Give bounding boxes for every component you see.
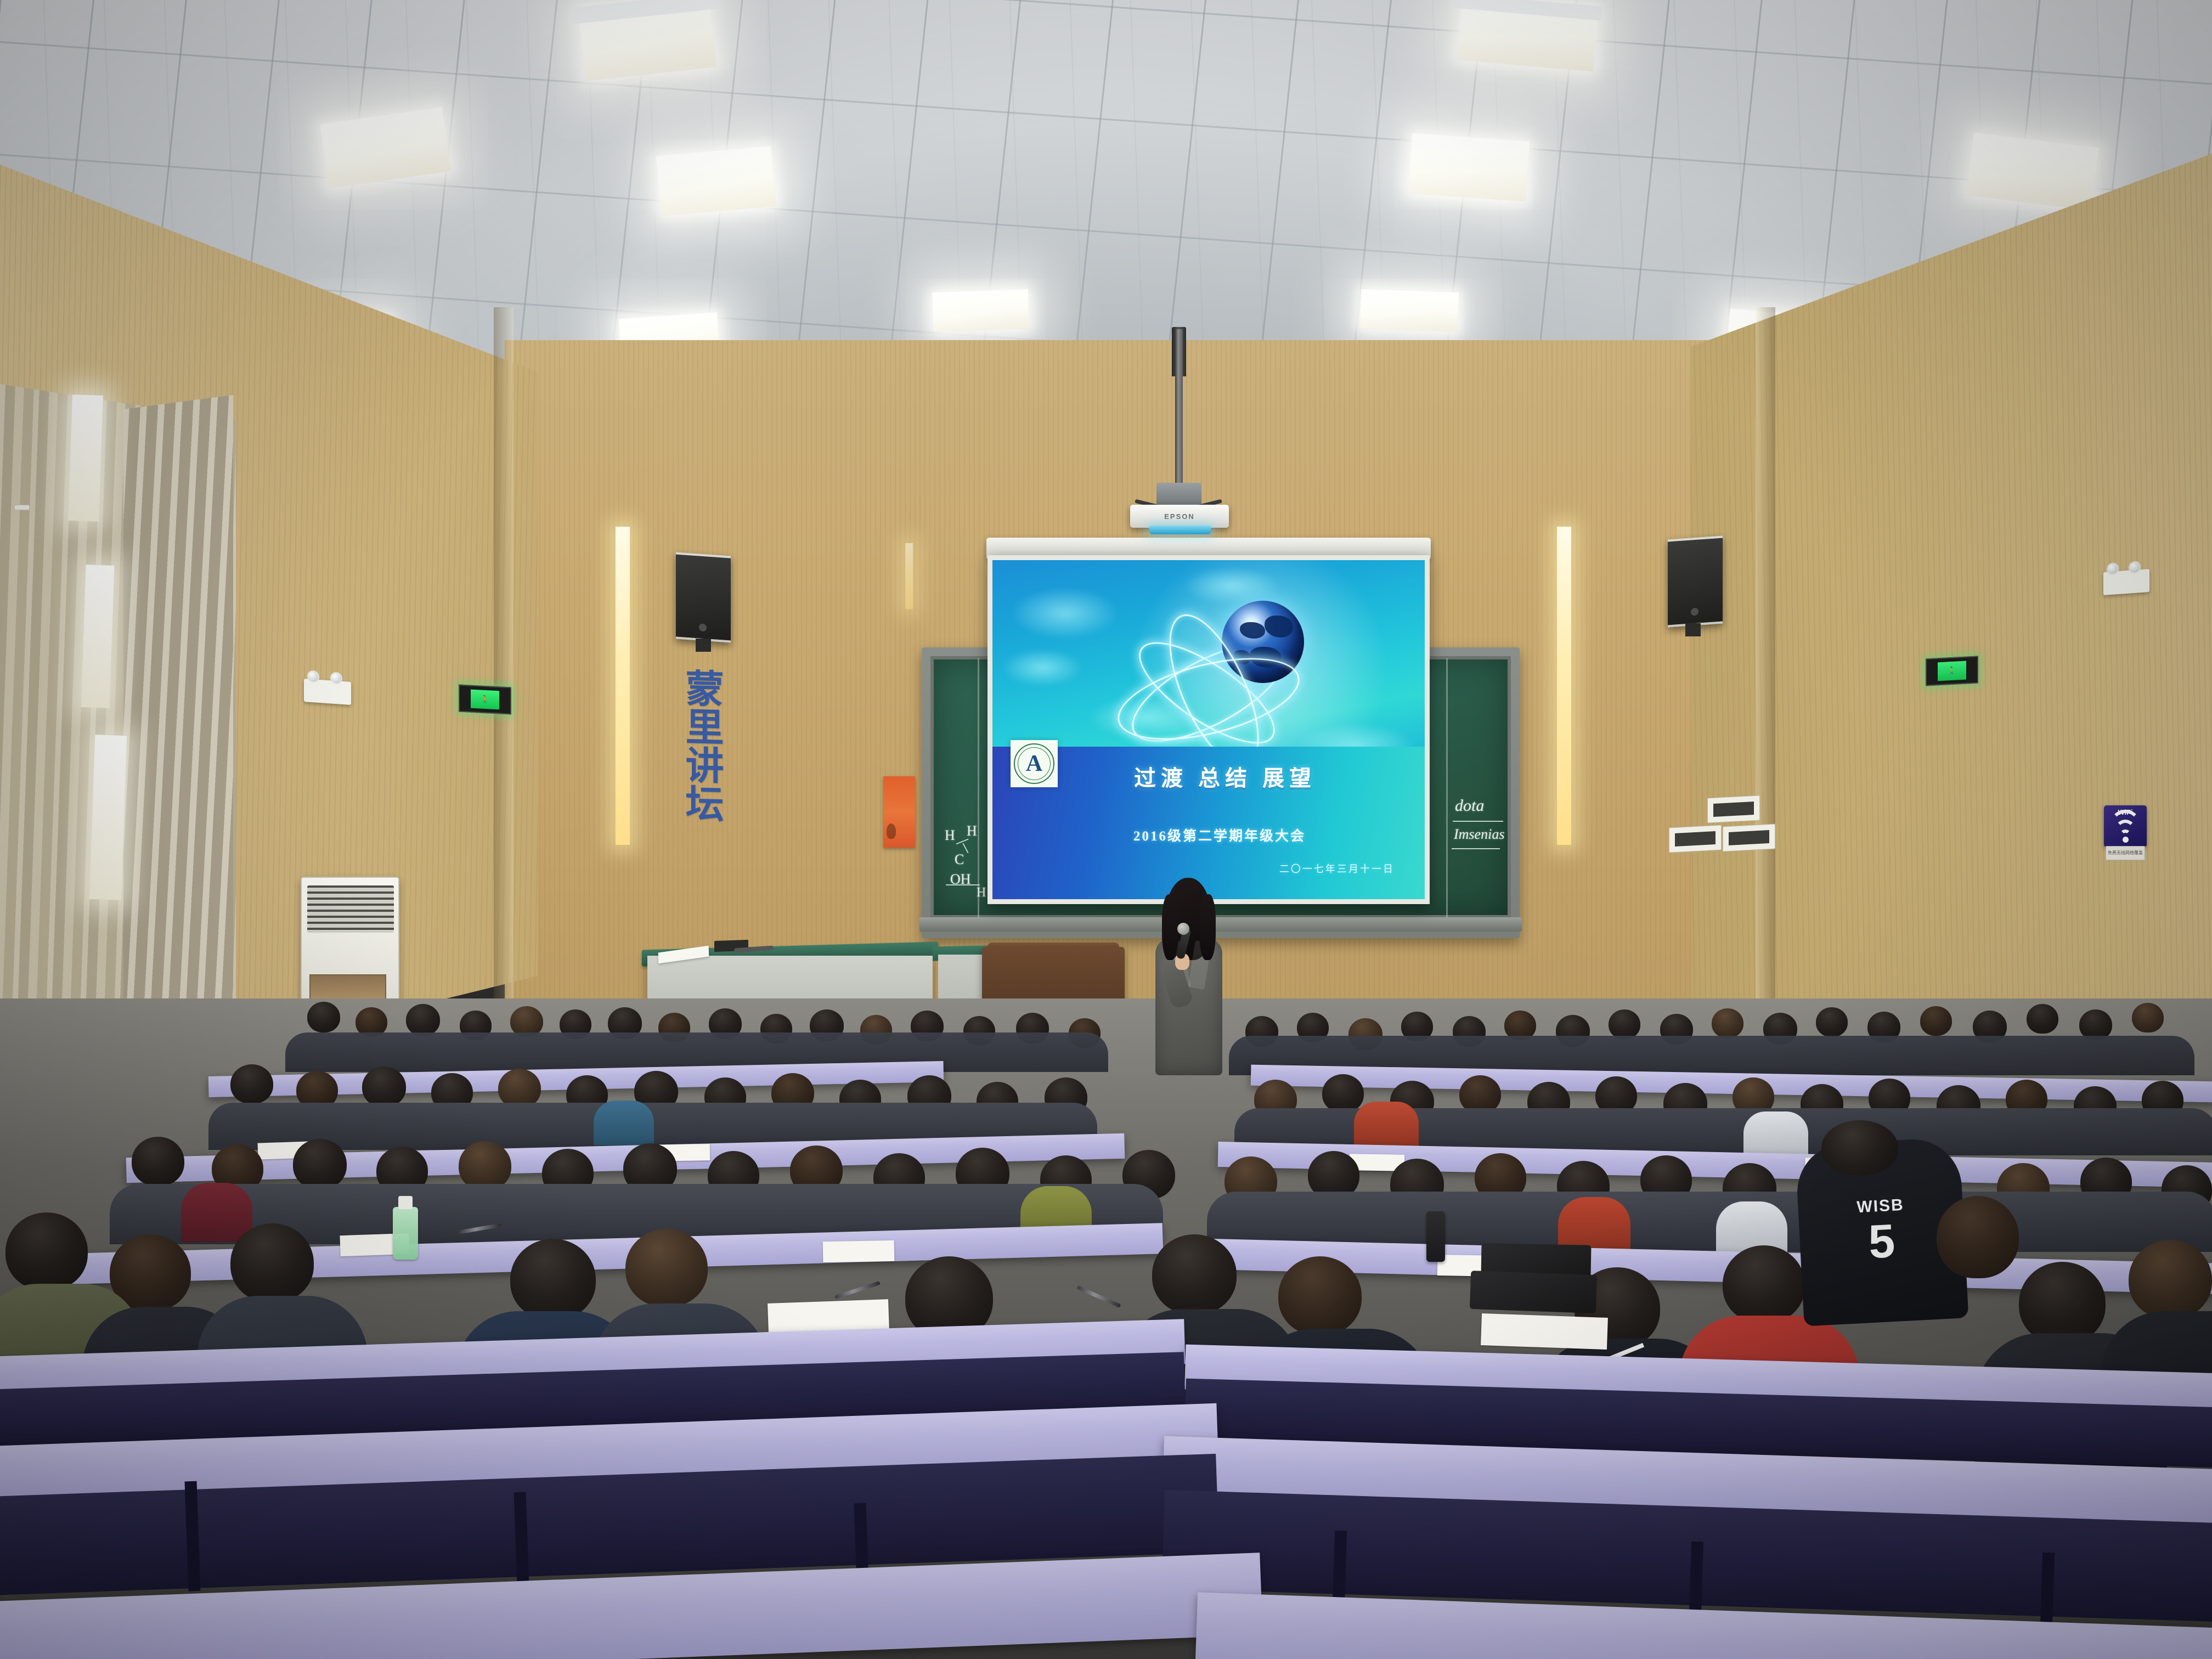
projector-rod (1175, 329, 1183, 494)
wall-switch-plate-upper[interactable] (1707, 795, 1760, 823)
slide-title: 过渡 总结 展望 (992, 760, 1425, 792)
desk-paper (823, 1240, 895, 1262)
audience-head-near (5, 1212, 88, 1290)
audience-head-near (1723, 1245, 1805, 1323)
wall-poster (883, 776, 915, 848)
desk-thermos (1426, 1211, 1445, 1262)
audience-head (1609, 1009, 1640, 1039)
audience-head (293, 1139, 347, 1189)
speaker-bracket-right (1685, 623, 1701, 636)
chalk-underline-dota (1453, 821, 1503, 822)
projector: EPSON (1130, 505, 1229, 528)
jersey-team-text: WISB (1857, 1197, 1905, 1216)
audience-head-near (2129, 1240, 2212, 1319)
wifi-label: WiFi (2104, 808, 2147, 816)
slide-date: 二〇一七年三月十一日 (1279, 861, 1395, 876)
exit-sign-glow-right: 🚶 (1938, 661, 1966, 681)
chalk-underline (946, 884, 980, 885)
audience-head (2132, 1003, 2164, 1032)
wifi-info-strip: 免费无线网络覆盖 (2106, 846, 2145, 860)
wall-switch-plate-lower-right[interactable] (1723, 823, 1775, 851)
wall-calligraphy: 蒙里讲坛 (658, 667, 724, 822)
window-light-slit (81, 565, 114, 708)
audience-body-colored (181, 1183, 252, 1242)
audience-head-near (1937, 1196, 2019, 1278)
exit-sign-left: 🚶 (459, 684, 511, 714)
wall-speaker-right (1668, 536, 1723, 628)
audience-body-colored (1354, 1102, 1419, 1148)
projection-screen: A 过渡 总结 展望 2016级第二学期年级大会 二〇一七年三月十一日 (992, 560, 1425, 899)
audience-body-colored (1743, 1111, 1808, 1158)
projector-brand-label: EPSON (1164, 512, 1195, 521)
audience-head (459, 1141, 511, 1190)
slide-cloud (1010, 587, 1120, 640)
wall-light-strip (616, 527, 630, 845)
wall-light-strip (905, 543, 913, 609)
blackboard-panel-seam-right (1446, 658, 1448, 917)
chalk-h2: H (967, 823, 977, 839)
chalk-word-imsenias: Imsenias (1454, 826, 1504, 843)
exit-sign-right: 🚶 (1926, 656, 1978, 686)
water-bottle (393, 1207, 418, 1260)
speaker-bracket-left (696, 639, 711, 652)
chalk-word-dota: dota (1455, 797, 1484, 815)
audience-head (406, 1004, 440, 1036)
audience-head (1920, 1006, 1952, 1036)
wall-switch-plate-lower-left[interactable] (1669, 825, 1722, 853)
wall-name-plate (14, 505, 30, 510)
audience-head (1712, 1008, 1743, 1038)
audience-head (307, 1002, 340, 1032)
audience-body-colored (594, 1101, 654, 1145)
emergency-lamp (2107, 562, 2119, 575)
audience-head-near (1278, 1256, 1362, 1335)
audience-head-near (230, 1223, 314, 1302)
presenter-hair-left (1162, 894, 1178, 960)
slide-cloud (1183, 567, 1282, 605)
emergency-lamp (2129, 561, 2141, 574)
globe-landmass (1240, 622, 1265, 639)
desk-notebook (1481, 1313, 1608, 1350)
audience-head-near (2019, 1262, 2106, 1344)
presenter (1147, 878, 1229, 1075)
wall-light-strip (1557, 527, 1571, 845)
globe-landmass (1265, 616, 1293, 637)
wifi-sign: WiFi (2104, 805, 2147, 847)
audience-head (362, 1066, 406, 1107)
desk-bag (1470, 1271, 1597, 1313)
chalk-h1: H (945, 827, 955, 844)
lecture-hall-photo: 🚶 蒙里讲坛 🚶 (0, 0, 2212, 1659)
audience-head-near (1152, 1234, 1237, 1314)
ceiling-light-panel (1360, 289, 1459, 332)
blackboard-panel-seam-left (978, 658, 979, 917)
ceiling-light-panel (932, 289, 1029, 332)
emergency-lamp (330, 672, 342, 685)
exit-sign-glow-left: 🚶 (471, 689, 499, 710)
audience-head (132, 1137, 184, 1186)
ac-vent-grille (307, 885, 394, 933)
wall-speaker-left (676, 552, 731, 643)
wifi-dot (2123, 837, 2129, 843)
audience-head-near (510, 1239, 596, 1320)
wifi-info-text: 免费无线网络覆盖 (2106, 847, 2145, 860)
chalk-c: C (955, 851, 964, 868)
slide-subtitle: 2016级第二学期年级大会 (992, 825, 1425, 845)
emergency-light-right (2103, 569, 2149, 595)
microphone-head (1177, 923, 1189, 935)
water-bottle-cap (398, 1196, 413, 1209)
audience-head-near (1821, 1120, 1898, 1175)
wall-calligraphy-text: 蒙里讲坛 (680, 668, 722, 822)
audience-head (2027, 1004, 2058, 1034)
jersey-number: 5 (1867, 1217, 1897, 1266)
window-light-slit (89, 735, 127, 900)
window-light-slit (68, 394, 103, 522)
audience-head-near (625, 1229, 708, 1307)
audience-head (1322, 1074, 1364, 1113)
presenter-hair-right (1199, 894, 1216, 960)
ceiling-light-panel (1408, 133, 1530, 202)
audience-head (1816, 1007, 1848, 1037)
projection-screen-frame: A 过渡 总结 展望 2016级第二学期年级大会 二〇一七年三月十一日 (988, 555, 1430, 904)
ceiling-light-panel (656, 146, 776, 216)
chalk-h3: H (977, 885, 986, 900)
chalk-underline-imsenias (1452, 848, 1500, 849)
wall-corner-right (1756, 307, 1775, 1119)
projector-lens-glow (1149, 526, 1211, 534)
audience-head (230, 1064, 273, 1104)
slide-cloud (1001, 648, 1084, 687)
